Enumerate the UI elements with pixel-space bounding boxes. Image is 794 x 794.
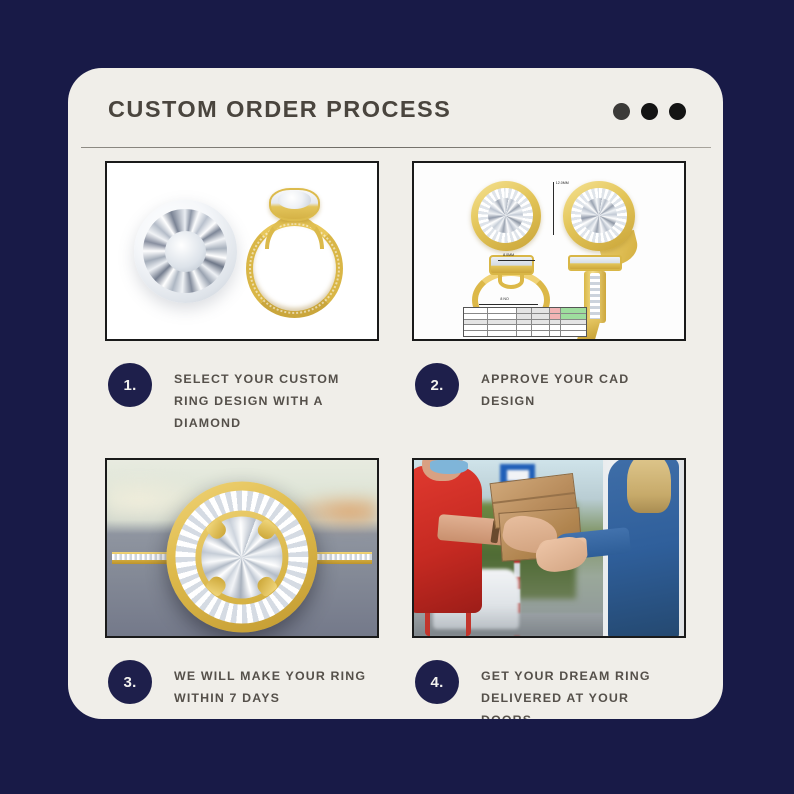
face-mask-icon: [430, 460, 468, 474]
cad-perspective-view-icon: [563, 181, 636, 251]
steps-grid: 1. SELECT YOUR CUSTOM RING DESIGN WITH A…: [68, 161, 723, 719]
customer-hair: [627, 458, 670, 513]
window-dot-icon-3[interactable]: [669, 103, 686, 120]
cad-band-dimension-line: [479, 304, 538, 305]
custom-order-process-card: CUSTOM ORDER PROCESS 1. SELECT YOUR CUST…: [68, 68, 723, 719]
step-card-4[interactable]: 4. GET YOUR DREAM RING DELIVERED AT YOUR…: [412, 458, 686, 719]
card-header: CUSTOM ORDER PROCESS: [68, 68, 723, 148]
cad-specification-table: [463, 307, 587, 337]
step-badge-3: 3.: [108, 660, 152, 704]
window-dots: [613, 103, 686, 120]
step-image-diamond-and-ring: [105, 161, 379, 341]
step-caption-2: 2. APPROVE YOUR CAD DESIGN: [412, 363, 686, 412]
cad-top-view-icon: [471, 181, 541, 251]
diamond-top-view-icon: [134, 200, 237, 303]
cad-width-dimension-label: 8.0MM: [503, 253, 514, 257]
step-badge-4: 4.: [415, 660, 459, 704]
step-text-1: SELECT YOUR CUSTOM RING DESIGN WITH A DI…: [174, 368, 369, 434]
cad-height-dimension-label: 12.0MM: [556, 181, 569, 185]
cad-band-dimension-label: 8 NO: [500, 297, 508, 301]
gold-ring-side-view-icon: [242, 188, 347, 318]
window-dot-icon-1[interactable]: [613, 103, 630, 120]
cad-width-dimension-line: [498, 260, 536, 261]
step-card-2[interactable]: 12.0MM 8.0MM 8 NO: [412, 161, 686, 434]
step-badge-1: 1.: [108, 363, 152, 407]
step-caption-3: 3. WE WILL MAKE YOUR RING WITHIN 7 DAYS: [105, 660, 379, 709]
step-card-3[interactable]: 3. WE WILL MAKE YOUR RING WITHIN 7 DAYS: [105, 458, 379, 719]
step-caption-1: 1. SELECT YOUR CUSTOM RING DESIGN WITH A…: [105, 363, 379, 434]
step-text-4: GET YOUR DREAM RING DELIVERED AT YOUR DO…: [481, 665, 676, 719]
step-text-2: APPROVE YOUR CAD DESIGN: [481, 368, 676, 412]
finished-halo-ring-icon: [166, 482, 317, 633]
step-text-3: WE WILL MAKE YOUR RING WITHIN 7 DAYS: [174, 665, 369, 709]
step-image-finished-ring: [105, 458, 379, 638]
step-image-delivery: [412, 458, 686, 638]
page-title: CUSTOM ORDER PROCESS: [108, 96, 451, 123]
window-dot-icon-2[interactable]: [641, 103, 658, 120]
step-caption-4: 4. GET YOUR DREAM RING DELIVERED AT YOUR…: [412, 660, 686, 719]
step-card-1[interactable]: 1. SELECT YOUR CUSTOM RING DESIGN WITH A…: [105, 161, 379, 434]
step-badge-2: 2.: [415, 363, 459, 407]
step-image-cad-drawing: 12.0MM 8.0MM 8 NO: [412, 161, 686, 341]
cad-height-dimension-line: [553, 182, 554, 235]
header-divider: [81, 147, 711, 148]
